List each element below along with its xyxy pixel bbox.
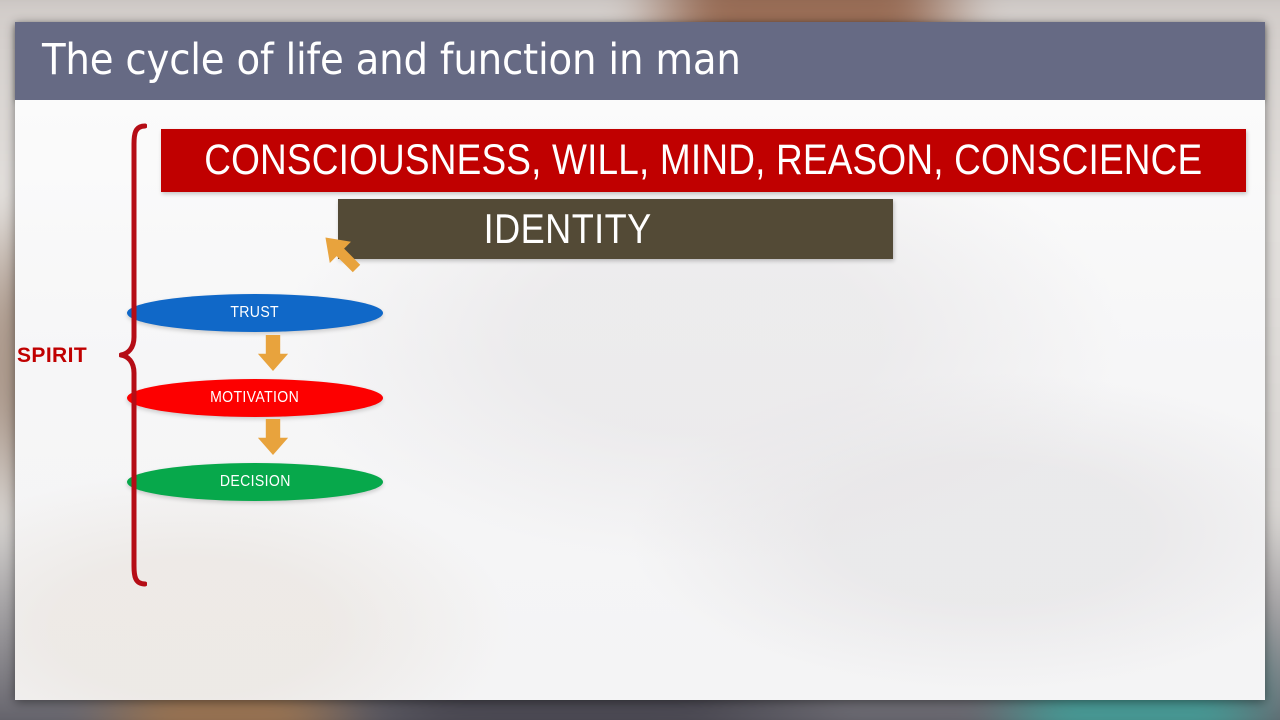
node-decision-label: DECISION: [220, 473, 291, 491]
node-trust-label: TRUST: [231, 304, 280, 322]
node-trust: TRUST: [127, 294, 383, 332]
banner-consciousness: CONSCIOUSNESS, WILL, MIND, REASON, CONSC…: [161, 129, 1246, 192]
slide-title-banner: The cycle of life and function in man: [15, 22, 1265, 100]
curly-brace-icon: [119, 122, 147, 588]
node-motivation-label: MOTIVATION: [210, 389, 299, 407]
slide-content-area: CONSCIOUSNESS, WILL, MIND, REASON, CONSC…: [15, 100, 1265, 700]
arrow-down-icon: [255, 334, 291, 372]
bracket-label-spirit: SPIRIT: [17, 344, 87, 368]
presentation-slide: The cycle of life and function in man CO…: [15, 22, 1265, 700]
page-title: The cycle of life and function in man: [42, 35, 741, 85]
banner-identity-label: IDENTITY: [484, 205, 652, 253]
banner-identity: IDENTITY: [338, 199, 893, 259]
arrow-down-icon-2: [255, 418, 291, 456]
node-decision: DECISION: [127, 463, 383, 501]
slide-stage: The cycle of life and function in man CO…: [0, 0, 1280, 720]
banner-consciousness-label: CONSCIOUSNESS, WILL, MIND, REASON, CONSC…: [204, 136, 1202, 185]
node-motivation: MOTIVATION: [127, 379, 383, 417]
